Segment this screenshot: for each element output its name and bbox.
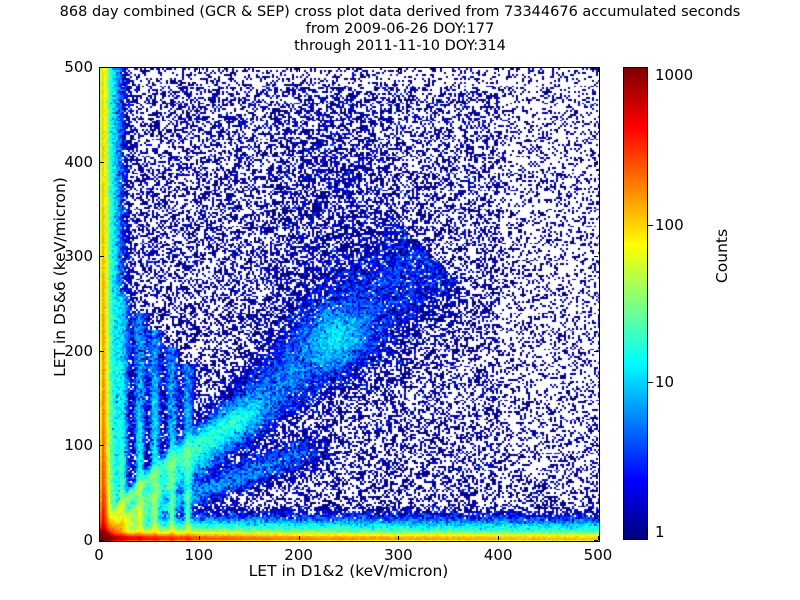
x-tick-top-400 (498, 68, 499, 72)
title-line-3: through 2011-11-10 DOY:314 (0, 38, 800, 55)
y-axis-label: LET in D5&6 (keV/micron) (51, 137, 69, 417)
x-tick-top-500 (598, 68, 599, 72)
colorbar-ticklabel-1000: 1000 (655, 66, 693, 84)
title-line-2: from 2009-06-26 DOY:177 (0, 21, 800, 38)
y-tick-100 (100, 445, 104, 446)
chart-title: 868 day combined (GCR & SEP) cross plot … (0, 4, 800, 55)
colorbar-ticklabel-100: 100 (655, 216, 684, 234)
y-tick-right-100 (594, 445, 598, 446)
y-tick-0 (100, 540, 104, 541)
x-tick-top-200 (299, 68, 300, 72)
x-tick-top-0 (99, 68, 100, 72)
y-tick-400 (100, 162, 104, 163)
heatmap-canvas (100, 68, 599, 541)
colorbar: 1101001000 (623, 67, 648, 540)
y-ticklabel-100: 100 (43, 436, 93, 454)
y-ticklabel-500: 500 (43, 58, 93, 76)
colorbar-tick-100 (648, 225, 653, 226)
y-tick-right-0 (594, 540, 598, 541)
x-tick-400 (498, 536, 499, 540)
y-ticklabel-0: 0 (43, 531, 93, 549)
x-tick-top-100 (199, 68, 200, 72)
x-tick-500 (598, 536, 599, 540)
y-tick-right-200 (594, 351, 598, 352)
plot-area (99, 67, 600, 542)
x-tick-100 (199, 536, 200, 540)
x-tick-200 (299, 536, 300, 540)
x-axis-label: LET in D1&2 (keV/micron) (99, 562, 598, 580)
colorbar-label: Counts (713, 146, 731, 366)
y-tick-200 (100, 351, 104, 352)
y-tick-500 (100, 67, 104, 68)
x-tick-300 (398, 536, 399, 540)
y-tick-right-300 (594, 256, 598, 257)
colorbar-gradient (623, 67, 648, 540)
colorbar-ticklabel-1: 1 (655, 523, 665, 541)
y-tick-300 (100, 256, 104, 257)
title-line-1: 868 day combined (GCR & SEP) cross plot … (0, 4, 800, 21)
colorbar-ticklabel-10: 10 (655, 373, 674, 391)
x-tick-top-300 (398, 68, 399, 72)
y-tick-right-400 (594, 162, 598, 163)
y-tick-right-500 (594, 67, 598, 68)
colorbar-tick-10 (648, 382, 653, 383)
